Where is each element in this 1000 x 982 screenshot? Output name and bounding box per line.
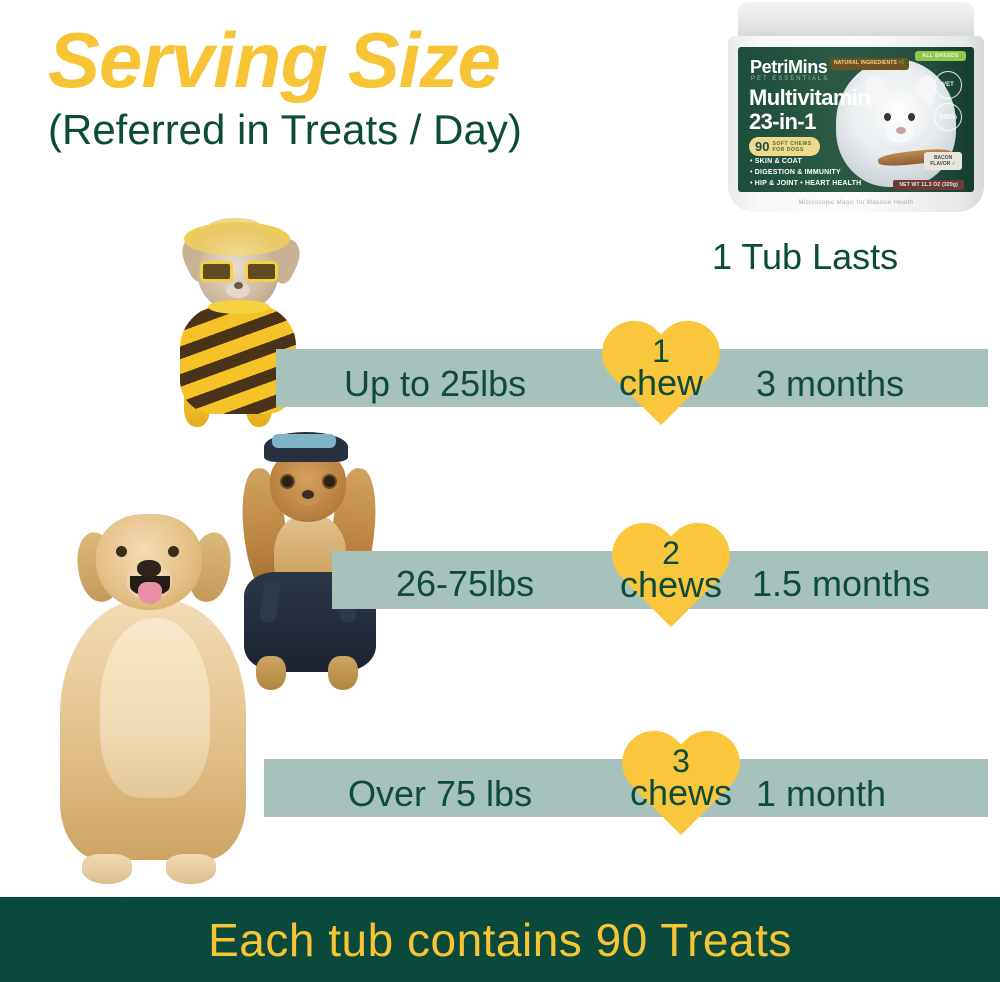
tub-lid xyxy=(738,2,974,40)
benefit-item: • DIGESTION & IMMUNITY xyxy=(750,168,861,179)
duration-label: 1 month xyxy=(756,773,886,815)
medium-dog-eye-right xyxy=(322,474,337,489)
large-dog-paw-left xyxy=(82,854,132,884)
flavor-tag: BACON FLAVOR ✓ xyxy=(924,152,962,170)
dosage-label: 3 chews xyxy=(591,747,771,810)
infographic-canvas: Serving Size (Referred in Treats / Day) … xyxy=(0,0,1000,982)
medium-dog-eye-left xyxy=(280,474,295,489)
tub-dog-eye-right xyxy=(908,113,915,121)
benefits-list: • SKIN & COAT • DIGESTION & IMMUNITY • H… xyxy=(750,157,861,190)
flavor-leaf-icon: ✓ xyxy=(952,161,956,167)
weight-label: Over 75 lbs xyxy=(348,773,532,815)
product-name-line1: Multivitamin xyxy=(749,87,870,109)
brand-tagline: PET ESSENTIALS xyxy=(751,76,829,82)
duration-label: 1.5 months xyxy=(752,563,930,605)
baseball-cap-brim xyxy=(272,434,336,448)
net-weight-label: NET WT 11.3 OZ (320g) xyxy=(893,180,964,190)
leaf-icon: 🌿 xyxy=(899,60,905,66)
large-dog-eye-right xyxy=(168,546,179,557)
sunglasses-icon xyxy=(200,260,278,282)
medium-dog-paw-left xyxy=(256,656,286,690)
tub-lasts-header: 1 Tub Lasts xyxy=(712,236,898,278)
medium-dog-paw-right xyxy=(328,656,358,690)
brand-name: PetriMins xyxy=(750,57,827,78)
chew-count-unit-line2: FOR DOGS xyxy=(772,147,803,153)
dosage-heart: 2 chews xyxy=(607,519,735,647)
dosage-label: 1 chew xyxy=(571,337,751,400)
tub-dog-face-icon xyxy=(858,75,944,159)
sunglasses-lens-right xyxy=(245,261,278,282)
medium-dog-nose xyxy=(302,490,314,499)
natural-badge-label: NATURAL INGREDIENTS xyxy=(834,60,897,66)
tub-dog-eye-left xyxy=(884,113,891,121)
large-dog-eye-left xyxy=(116,546,127,557)
page-title: Serving Size xyxy=(48,22,688,98)
tub-dog-nose xyxy=(896,127,906,134)
dosage-unit: chews xyxy=(591,776,771,809)
chew-count-number: 90 xyxy=(755,139,769,154)
tub-label: PetriMins PET ESSENTIALS NATURAL INGREDI… xyxy=(738,47,974,192)
dosage-heart: 3 chews xyxy=(617,727,745,855)
tub-slogan: Microscopic Magic for Massive Health xyxy=(722,200,990,206)
small-dog-collar xyxy=(208,300,270,314)
small-dog-nose xyxy=(234,282,243,289)
dosage-label: 2 chews xyxy=(581,539,761,602)
large-dog-nose xyxy=(137,560,161,577)
footer-bar: Each tub contains 90 Treats xyxy=(0,897,1000,982)
footer-text: Each tub contains 90 Treats xyxy=(208,913,792,967)
natural-ingredients-badge: NATURAL INGREDIENTS 🌿 xyxy=(830,58,909,70)
dosage-heart: 1 chew xyxy=(597,317,725,445)
page-subtitle: (Referred in Treats / Day) xyxy=(48,108,688,152)
dosage-unit: chew xyxy=(571,366,751,399)
large-dog-tongue xyxy=(138,582,162,604)
flavor-tag-line2: FLAVOR xyxy=(930,161,950,167)
product-tub-image: PetriMins PET ESSENTIALS NATURAL INGREDI… xyxy=(722,0,990,218)
weight-label: Up to 25lbs xyxy=(344,363,526,405)
large-dog-paw-right xyxy=(166,854,216,884)
sunglasses-lens-left xyxy=(200,261,233,282)
large-dog-chest xyxy=(100,618,210,798)
sun-hat-brim xyxy=(184,222,290,256)
benefit-item: • HIP & JOINT • HEART HEALTH xyxy=(750,179,861,190)
page-header: Serving Size (Referred in Treats / Day) xyxy=(48,22,688,153)
benefit-item: • SKIN & COAT xyxy=(750,157,861,168)
hundred-percent-seal-icon: 100% xyxy=(934,103,962,131)
dosage-unit: chews xyxy=(581,568,761,601)
product-name-line2: 23-in-1 xyxy=(749,109,816,135)
chew-count-pill: 90 SOFT CHEWS FOR DOGS xyxy=(749,137,820,156)
chew-count-units: SOFT CHEWS FOR DOGS xyxy=(772,141,811,153)
all-breeds-tag: ALL BREEDS xyxy=(915,51,966,61)
duration-label: 3 months xyxy=(756,363,904,405)
vet-seal-icon: VET xyxy=(934,71,962,99)
weight-label: 26-75lbs xyxy=(396,563,534,605)
